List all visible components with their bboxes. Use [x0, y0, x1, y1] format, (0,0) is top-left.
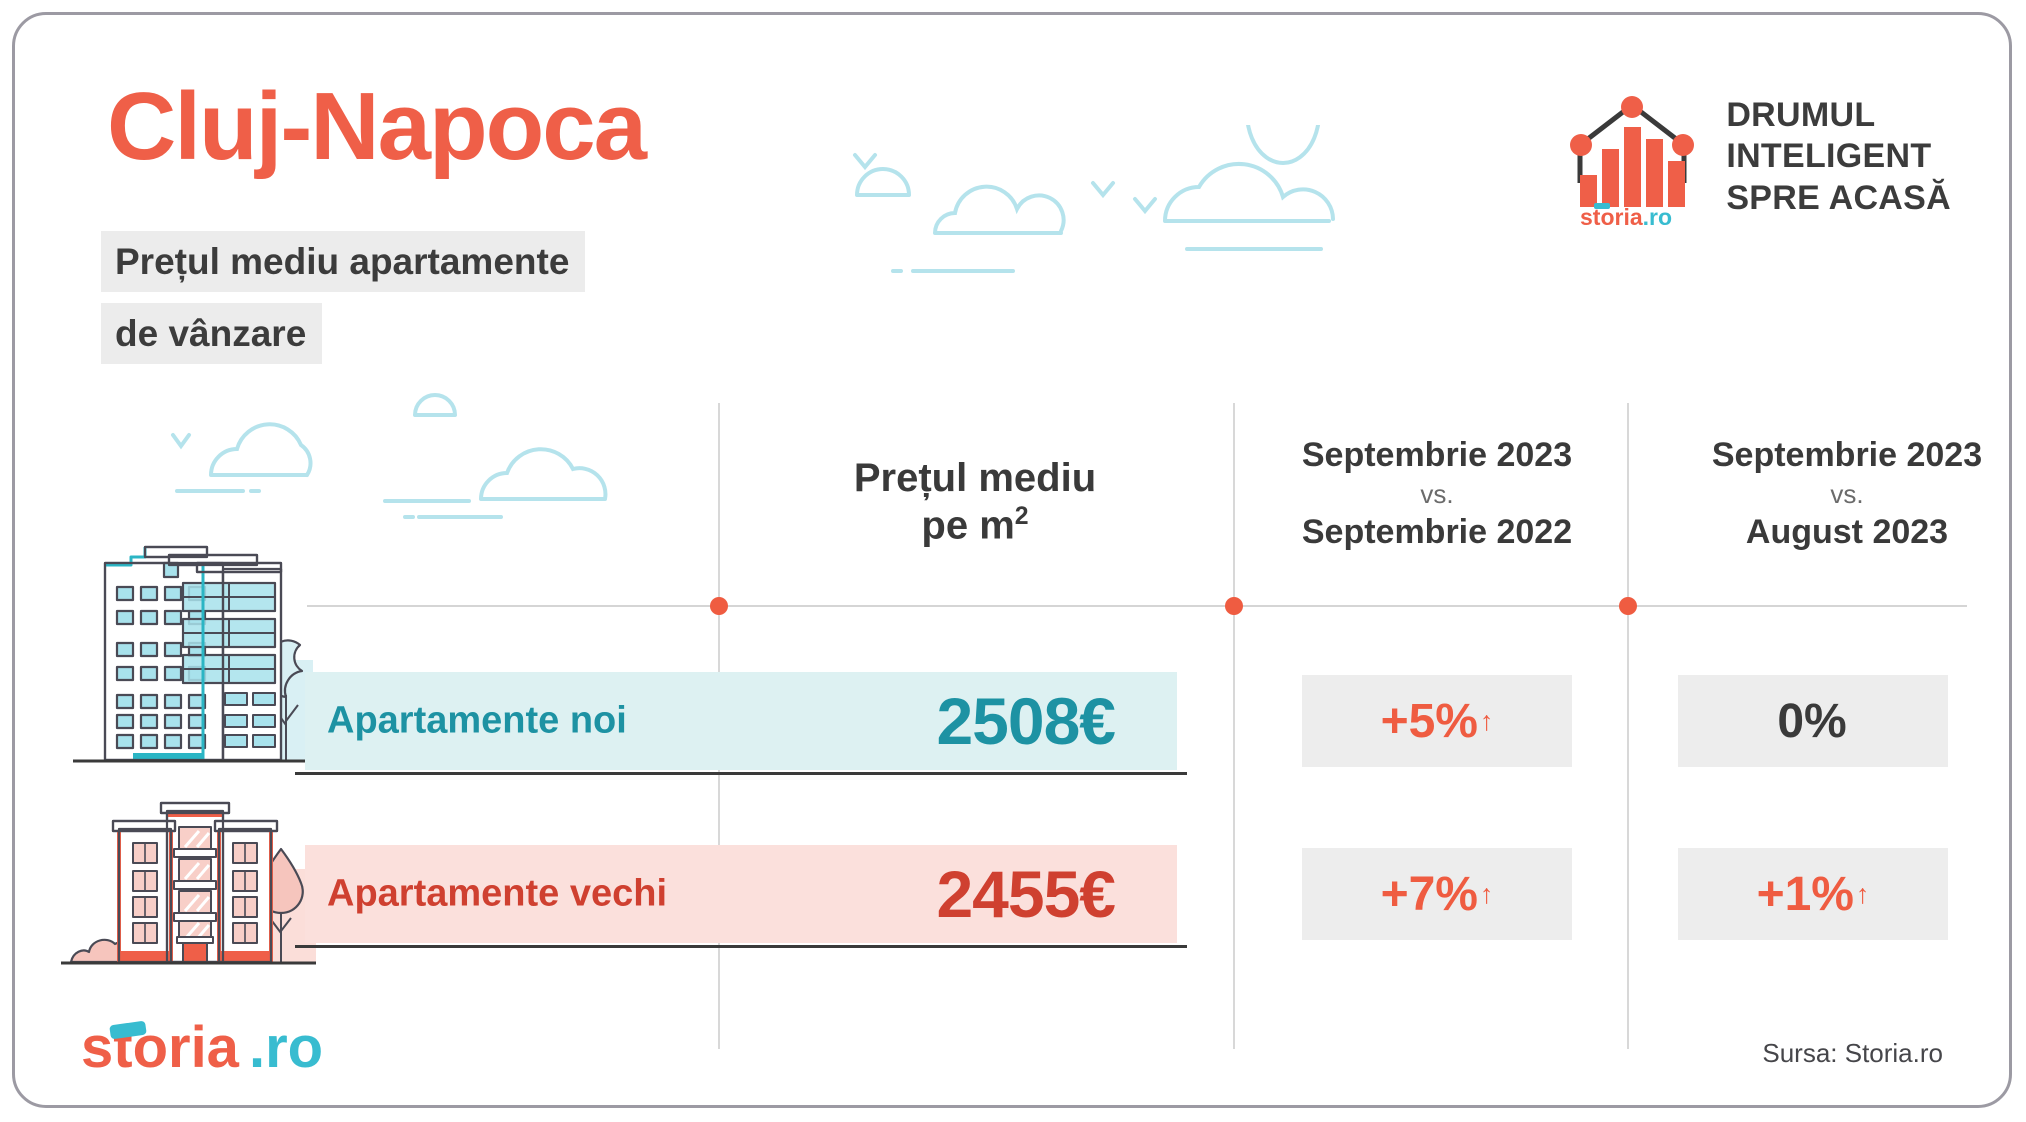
arrow-up-icon: ↑	[1480, 708, 1493, 735]
brand-logo: storia.ro DRUMUL INTELIGENT SPRE ACASĂ	[1562, 87, 1951, 227]
row-underline	[295, 772, 1187, 775]
svg-text:.ro: .ro	[249, 1015, 323, 1080]
column-header-mom: Septembrie 2023 vs. August 2023	[1647, 435, 2012, 552]
subtitle-line-1: Prețul mediu apartamente	[101, 231, 585, 292]
brand-tagline-line-3: SPRE ACASĂ	[1726, 178, 1951, 219]
column-header-yoy-vs: vs.	[1237, 479, 1637, 510]
column-divider-2	[1233, 403, 1235, 1049]
status-badge-new-yoy: +5%↑	[1302, 675, 1572, 767]
badge-value: +7%	[1381, 867, 1478, 922]
badge-value: +1%	[1757, 867, 1854, 922]
column-header-price-line-2: pe m2	[755, 502, 1195, 550]
row-underline	[295, 945, 1187, 948]
divider-dot-2	[1225, 597, 1243, 615]
divider-dot-3	[1619, 597, 1637, 615]
column-header-mom-top: Septembrie 2023	[1712, 436, 1982, 474]
column-header-mom-vs: vs.	[1647, 479, 2012, 510]
column-header-mom-bottom: August 2023	[1746, 513, 1948, 551]
arrow-up-icon: ↑	[1856, 881, 1869, 908]
status-badge-old-yoy: +7%↑	[1302, 848, 1572, 940]
column-header-yoy-top: Septembrie 2023	[1302, 436, 1572, 474]
badge-value: +5%	[1381, 694, 1478, 749]
status-badge-new-mom: 0%	[1678, 675, 1948, 767]
page-title: Cluj-Napoca	[107, 77, 645, 178]
table-row: Apartamente noi 2508€	[305, 672, 1177, 770]
svg-text:storia.ro: storia.ro	[1580, 204, 1672, 227]
subtitle-line-2: de vânzare	[101, 303, 322, 364]
column-header-price: Prețul mediu pe m2	[755, 455, 1195, 550]
source-note: Sursa: Storia.ro	[1762, 1038, 1943, 1069]
status-badge-old-mom: +1%↑	[1678, 848, 1948, 940]
table-row: Apartamente vechi 2455€	[305, 845, 1177, 943]
drumul-inteligent-mark-icon: storia.ro	[1562, 87, 1702, 227]
column-header-price-line-1: Prețul mediu	[755, 455, 1195, 502]
row-price-old: 2455€	[936, 856, 1115, 932]
cloud-cluster-left	[115, 387, 675, 527]
column-header-yoy: Septembrie 2023 vs. Septembrie 2022	[1237, 435, 1637, 552]
storia-logo[interactable]: storia .ro	[81, 1015, 381, 1090]
column-header-yoy-bottom: Septembrie 2022	[1302, 513, 1572, 551]
row-label-new: Apartamente noi	[327, 700, 627, 743]
arrow-up-icon: ↑	[1480, 881, 1493, 908]
brand-tagline-line-2: INTELIGENT	[1726, 136, 1951, 177]
brand-tagline-line-1: DRUMUL	[1726, 95, 1951, 136]
new-building-illustration	[73, 525, 313, 775]
divider-dot-1	[710, 597, 728, 615]
infographic-card: Cluj-Napoca Prețul mediu apartamente de …	[12, 12, 2012, 1108]
old-building-illustration	[61, 791, 316, 971]
row-label-old: Apartamente vechi	[327, 873, 667, 916]
svg-text:storia: storia	[81, 1015, 240, 1080]
badge-value: 0%	[1777, 694, 1846, 749]
header-rule	[307, 605, 1967, 607]
brand-tagline: DRUMUL INTELIGENT SPRE ACASĂ	[1726, 95, 1951, 219]
row-price-new: 2508€	[936, 683, 1115, 759]
cloud-cluster-top	[835, 125, 1455, 285]
